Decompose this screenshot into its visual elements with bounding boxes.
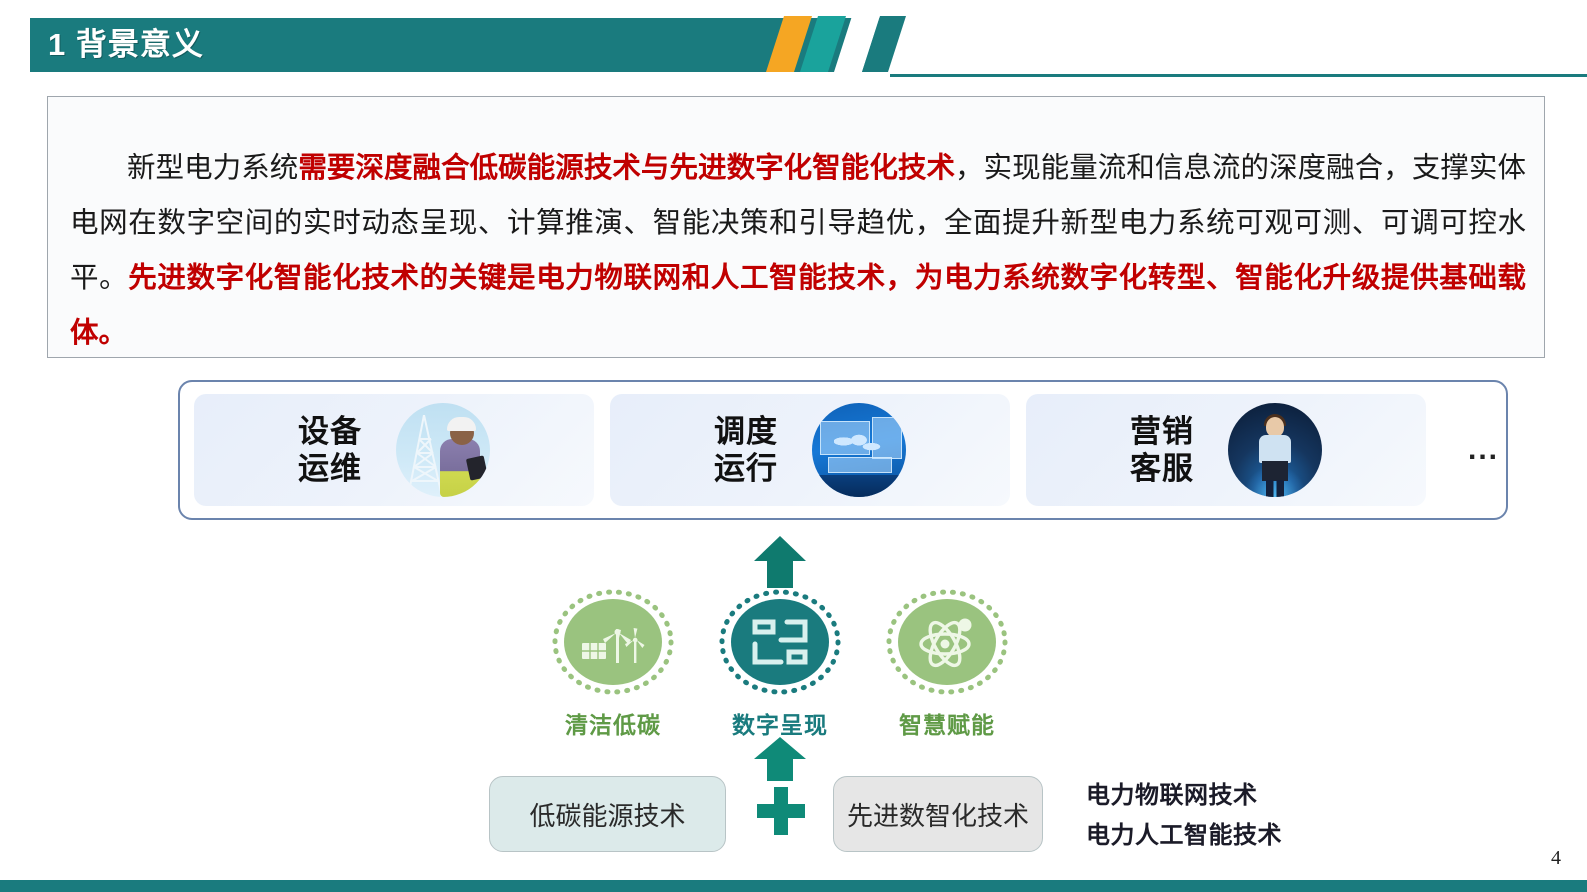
atom-icon [898, 599, 996, 685]
screen-console [828, 457, 892, 473]
paragraph-normal: 新型电力系统 [127, 151, 298, 184]
tablet-device [466, 455, 488, 480]
tech-key-item: 电力人工智能技术 [1086, 815, 1282, 855]
intro-paragraph-text: 新型电力系统需要深度融合低碳能源技术与先进数字化智能化技术，实现能量流和信息流的… [70, 140, 1526, 360]
world-map-graphic [834, 431, 882, 457]
arrow-up-icon [752, 534, 808, 590]
page-number: 4 [1551, 847, 1561, 870]
application-scenarios-container: 设备 运维 调度 运行 营销 客服 [178, 380, 1508, 520]
avatar-torso [1259, 435, 1291, 463]
scenario-card-label: 设备 运维 [298, 413, 362, 487]
header-underline [890, 74, 1587, 77]
arrow-up-icon [752, 735, 808, 783]
pillar-label: 清洁低碳 [538, 706, 688, 740]
decorative-slashes-icon [760, 8, 960, 80]
scenario-card-equipment[interactable]: 设备 运维 [194, 394, 594, 506]
scenario-card-marketing[interactable]: 营销 客服 [1026, 394, 1426, 506]
solar-wind-icon [564, 599, 662, 685]
paragraph-emphasis: 先进数字化智能化技术的关键是电力物联网和人工智能技术，为电力系统数字化转型、智能… [70, 261, 1526, 349]
scenario-more-ellipsis: ... [1468, 441, 1499, 459]
footer-bar [0, 880, 1587, 892]
avatar-skirt [1262, 461, 1288, 481]
pillar-digital-presentation[interactable]: 数字呈现 [705, 588, 855, 740]
pillar-clean-low-carbon[interactable]: 清洁低碳 [538, 588, 688, 740]
plus-icon [755, 785, 807, 837]
desk-surface [812, 475, 906, 497]
intro-paragraph-box: 新型电力系统需要深度融合低碳能源技术与先进数字化智能化技术，实现能量流和信息流的… [47, 96, 1545, 358]
digital-twin-icon [731, 599, 829, 685]
worker-helmet [447, 417, 476, 431]
scenario-card-dispatch[interactable]: 调度 运行 [610, 394, 1010, 506]
digital-avatar-assistant-photo [1228, 403, 1322, 497]
scenario-card-label: 营销 客服 [1130, 413, 1194, 487]
tech-key-item: 电力物联网技术 [1086, 775, 1282, 815]
control-room-screens-photo [812, 403, 906, 497]
pillar-label: 智慧赋能 [872, 706, 1022, 740]
power-tower-worker-photo [396, 403, 490, 497]
scenario-card-label: 调度 运行 [714, 413, 778, 487]
tech-box-advanced-digital[interactable]: 先进数智化技术 [833, 776, 1043, 852]
pillar-smart-enablement[interactable]: 智慧赋能 [872, 588, 1022, 740]
avatar-head [1266, 417, 1284, 437]
paragraph-emphasis: 需要深度融合低碳能源技术与先进数字化智能化技术 [298, 151, 955, 184]
tech-box-low-carbon[interactable]: 低碳能源技术 [489, 776, 726, 852]
avatar-legs [1266, 480, 1284, 497]
tech-key-list: 电力物联网技术 电力人工智能技术 [1086, 775, 1282, 855]
page-title: 1 背景意义 [48, 26, 204, 64]
